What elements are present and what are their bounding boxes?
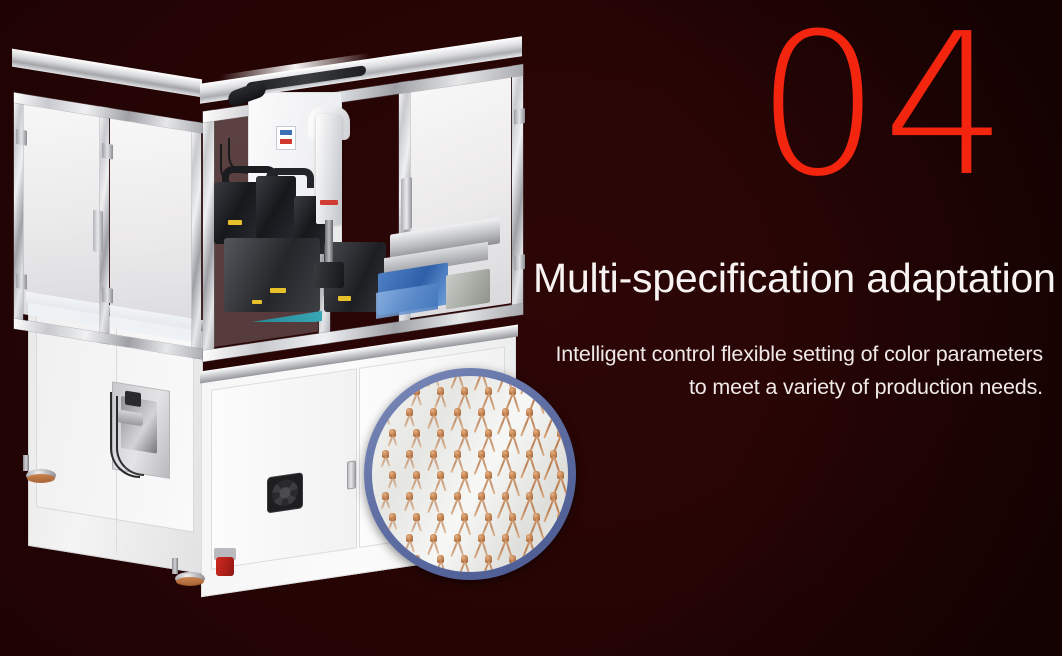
cabinet-door-handle <box>347 460 356 489</box>
pin-needle <box>372 393 373 402</box>
yellow-marker-4 <box>252 300 262 304</box>
actuator-module-2 <box>256 176 296 246</box>
machine-interior <box>208 92 508 322</box>
feature-slide: 04 Multi-specification adaptation Intell… <box>0 0 1062 656</box>
pin-needle <box>372 519 373 528</box>
actuator-module-1 <box>214 182 260 244</box>
base-fixture-1 <box>224 238 320 312</box>
hinge-1 <box>16 129 27 146</box>
grey-bracket <box>446 269 490 310</box>
pin-needle <box>385 456 390 467</box>
pin-needle <box>464 477 471 493</box>
pin-needle <box>385 376 390 383</box>
pin-needle <box>512 477 520 497</box>
pin-needle <box>457 456 464 472</box>
subtitle-block: Intelligent control flexible setting of … <box>513 338 1043 405</box>
pin-needle <box>488 519 496 537</box>
frame-post-3 <box>192 121 201 358</box>
pin-needle <box>440 519 446 534</box>
hinge-2 <box>16 273 27 290</box>
pin-needle <box>392 477 397 488</box>
scara-robot-logo <box>320 200 338 205</box>
pin-needle <box>560 561 568 572</box>
yellow-marker-3 <box>338 296 351 301</box>
pin-needle <box>392 435 397 446</box>
pin-needle <box>464 561 471 572</box>
enclosure-door-handle-left <box>93 209 103 253</box>
pin-needle <box>464 435 471 451</box>
scara-robot-column <box>316 114 342 224</box>
signal-cable <box>116 396 144 476</box>
hinge-4 <box>102 287 113 304</box>
scara-robot-shaft <box>325 220 333 266</box>
pin-needle <box>372 477 373 486</box>
inset-pin-bed-photo <box>372 376 568 572</box>
slide-number: 04 <box>756 8 1009 204</box>
warning-label <box>276 126 296 150</box>
glass-panel-1 <box>20 102 100 327</box>
enclosure-left-bank <box>14 93 204 376</box>
pin-needle <box>372 561 373 570</box>
caster-wheel <box>214 548 236 576</box>
pin-needle <box>450 376 459 389</box>
hinge-8 <box>514 254 525 271</box>
pin-needle <box>457 540 464 556</box>
pin-needle <box>464 393 471 409</box>
pin-needle <box>392 519 397 530</box>
pin-needle <box>440 393 446 408</box>
pin-needle <box>464 519 471 535</box>
pin-needle <box>457 498 464 514</box>
yellow-marker-2 <box>270 288 286 293</box>
teal-tray <box>232 311 322 322</box>
pin-needle <box>433 540 439 555</box>
pin-needle <box>392 561 397 572</box>
pin-needle <box>488 477 496 495</box>
glass-panel-2 <box>110 116 192 341</box>
pin-needle <box>512 519 520 539</box>
pin-needle <box>440 435 446 450</box>
pin-needle <box>474 376 483 391</box>
pin-needle <box>560 477 568 500</box>
pin-needle <box>488 435 496 453</box>
pin-needle <box>440 477 446 492</box>
pin-needle <box>512 435 520 455</box>
cabinet-door-left <box>211 368 357 570</box>
pin-needle <box>409 376 415 385</box>
pin-needle <box>433 456 439 471</box>
pin-needle <box>488 393 496 411</box>
subtitle-line-2: to meet a variety of production needs. <box>513 371 1043 404</box>
pin-needle <box>433 498 439 513</box>
hinge-3 <box>102 143 113 160</box>
subtitle-line-1: Intelligent control flexible setting of … <box>513 338 1043 371</box>
frame-post-7 <box>512 64 523 316</box>
ventilation-fan <box>267 472 303 513</box>
pin-needle <box>457 414 464 430</box>
pin-needle <box>433 414 439 429</box>
yellow-marker-1 <box>228 220 242 225</box>
scara-robot-tool <box>314 262 344 288</box>
page-title: Multi-specification adaptation <box>533 255 1043 302</box>
hinge-7 <box>514 108 525 125</box>
pin-needle <box>385 498 390 509</box>
